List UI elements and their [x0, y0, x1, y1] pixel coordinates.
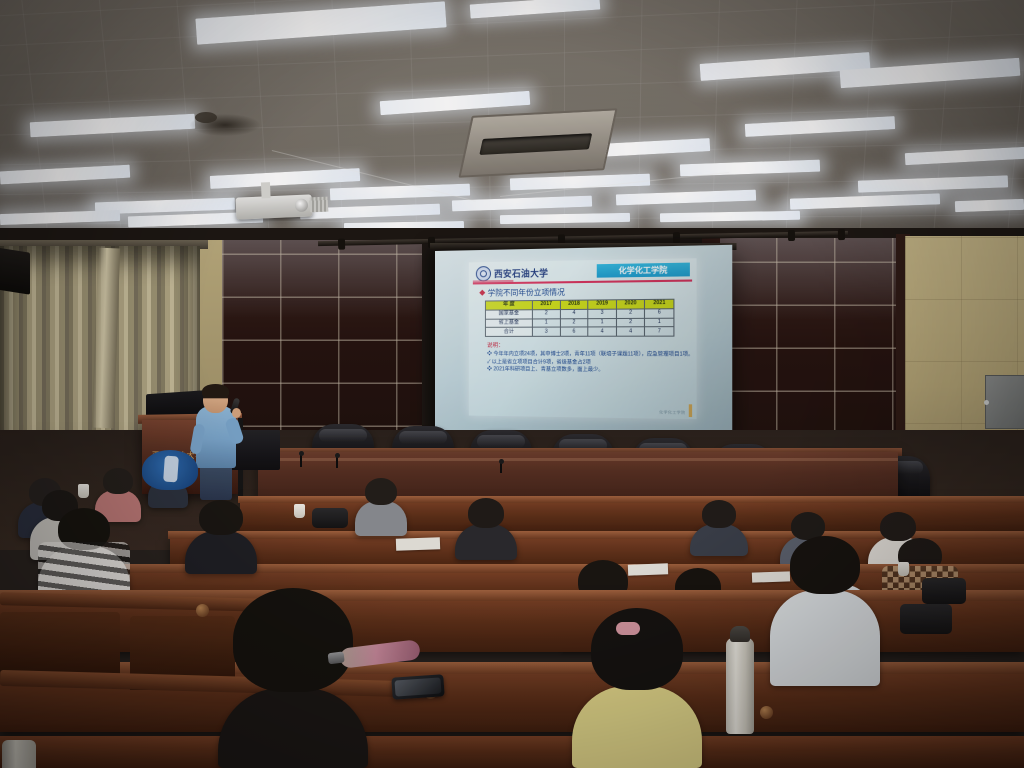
slide-data-table: 年 度20172018201920202021 国家基金24326省上基金121… — [485, 299, 675, 337]
person-head — [468, 498, 504, 528]
person-body — [770, 590, 880, 686]
table-row-label: 省上基金 — [485, 319, 532, 328]
department-label: 化学化工学院 — [619, 264, 668, 276]
table-cell: 2 — [560, 318, 588, 327]
wall-speaker-icon — [0, 247, 30, 294]
black-bag-icon — [900, 604, 952, 634]
table-header-cell: 2020 — [616, 300, 645, 309]
table-cell: 7 — [645, 327, 674, 336]
person-head — [103, 468, 133, 494]
note-line: ❖ 2021年科研项目上、青基立项数多，面上最少。 — [487, 366, 686, 375]
person-head — [365, 478, 397, 505]
person-body — [185, 531, 257, 574]
bench-knob — [760, 706, 773, 719]
table-row: 合计36447 — [485, 327, 673, 337]
slide-footer: 化学化工学院 — [659, 410, 685, 416]
black-bag-icon — [922, 578, 966, 604]
paper-notes — [752, 571, 790, 582]
table-cell: 1 — [588, 318, 616, 327]
thermos-bottle-icon — [726, 638, 754, 734]
black-bag-icon — [312, 508, 348, 528]
person-head — [880, 512, 916, 541]
table-header-cell: 2021 — [645, 299, 674, 308]
slide-department-banner: 化学化工学院 — [597, 263, 690, 278]
projection-screen: 西安石油大学 化学化工学院 ❖学院不同年份立项情况 年 度20172018201… — [435, 245, 732, 442]
table-header-cell: 2017 — [532, 300, 560, 309]
slide-title-text: 学院不同年份立项情况 — [488, 287, 565, 297]
presenter-hair — [202, 384, 229, 398]
table-cell: 6 — [560, 327, 588, 336]
person-head — [591, 608, 683, 690]
table-cell: 4 — [560, 309, 588, 318]
notes-list: ❖ 今年年内立项24项，其中博士2项，青年11项（联培子课题11项），应急管理项… — [487, 351, 686, 375]
projector-vent — [310, 197, 329, 213]
table-row-label: 国家基金 — [485, 310, 532, 319]
table-cell: 3 — [588, 309, 616, 318]
table-cell: 1 — [645, 318, 674, 327]
paper-notes — [628, 563, 668, 575]
vent-slot — [479, 133, 592, 155]
hair-tie — [616, 622, 640, 635]
person-head — [233, 588, 353, 692]
table-cell: 6 — [645, 308, 674, 317]
slide-title: ❖学院不同年份立项情况 — [479, 286, 565, 298]
projector-mount — [261, 182, 271, 198]
paper-cup-icon — [898, 562, 909, 576]
table-header-cell: 2019 — [588, 300, 616, 309]
desk-microphone-icon — [300, 454, 302, 467]
lecture-hall-photo: 西安石油大学 化学化工学院 ❖学院不同年份立项情况 年 度20172018201… — [0, 0, 1024, 768]
paper-cup-icon — [294, 504, 305, 518]
table-cell: 2 — [532, 309, 560, 318]
table-cell: 3 — [532, 327, 560, 336]
slide-notes: 说明： ❖ 今年年内立项24项，其中博士2项，青年11项（联培子课题11项），应… — [487, 341, 686, 375]
note-line: ❖ 今年年内立项24项，其中博士2项，青年11项（联培子课题11项），应急管理项… — [487, 351, 686, 359]
presentation-slide: 西安石油大学 化学化工学院 ❖学院不同年份立项情况 年 度20172018201… — [469, 258, 697, 419]
table-body: 国家基金24326省上基金12121合计36447 — [485, 308, 673, 336]
air-vent-icon — [458, 108, 617, 177]
paper-notes — [396, 537, 440, 551]
bench-knob — [196, 604, 209, 617]
person-head — [790, 536, 860, 594]
table-cell: 4 — [588, 327, 616, 336]
person-body — [572, 686, 702, 768]
table-header-cell: 年 度 — [485, 301, 532, 310]
table-cell: 2 — [616, 309, 645, 318]
person-body — [455, 524, 517, 560]
desk-microphone-icon — [336, 456, 338, 468]
smartphone-icon — [391, 674, 444, 700]
slide-title-bullet: ❖ — [479, 288, 486, 297]
blue-cap-stripe — [163, 456, 179, 483]
person-head — [199, 500, 243, 535]
person-head — [702, 500, 736, 528]
university-seal-icon — [476, 266, 491, 281]
notes-heading: 说明： — [487, 341, 686, 349]
water-bottle-icon — [2, 740, 36, 768]
paper-cup-icon — [78, 484, 89, 498]
table-cell: 2 — [616, 318, 645, 327]
projector-icon — [236, 194, 313, 219]
university-name: 西安石油大学 — [494, 266, 548, 280]
slide-edge-mark — [689, 404, 692, 417]
desk-microphone-icon — [500, 462, 502, 473]
person-body — [355, 501, 407, 536]
smoke-detector-icon — [195, 112, 217, 123]
table-header-cell: 2018 — [560, 300, 588, 309]
projector-lens — [295, 199, 309, 213]
access-panel-icon — [985, 375, 1024, 429]
table-cell: 1 — [532, 318, 560, 327]
thermos-cap — [730, 626, 750, 642]
person-body — [690, 524, 748, 556]
presenter-hand — [232, 408, 241, 418]
table-cell: 4 — [616, 327, 645, 336]
table-row-label: 合计 — [485, 327, 532, 336]
bench-row-front3 — [0, 736, 1024, 768]
